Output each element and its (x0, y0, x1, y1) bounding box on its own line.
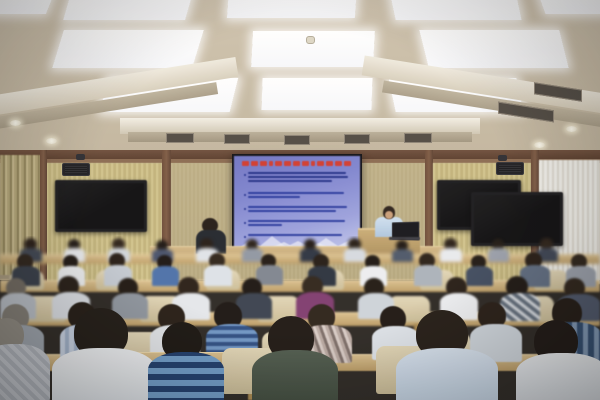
ceiling-light-panel (227, 0, 357, 18)
ceiling-light-panel (63, 0, 195, 20)
torso (252, 350, 338, 400)
torso (516, 353, 600, 400)
torso (440, 248, 462, 262)
torso (396, 348, 498, 400)
downlight (534, 142, 545, 148)
ceiling-light-panel (261, 78, 372, 110)
air-vent (344, 134, 370, 144)
slide-bullet: ——严格落实规定，明确职责，重点落实院党组织责任和监督责任。 (244, 192, 352, 198)
audience (0, 236, 600, 400)
bullet-dot (244, 174, 246, 176)
ceiling-light-panel (0, 0, 58, 14)
slide-bullet: 十九大以来，中央已出台系列新规定，各地相继下发了文件，县市层面落实细则必须严格执… (244, 172, 352, 182)
presenter-face (385, 211, 393, 219)
torso (466, 266, 493, 286)
torso (392, 249, 413, 262)
surveillance-camera-icon (498, 155, 507, 161)
torso (488, 248, 509, 262)
bullet-dot (244, 194, 246, 196)
wall-speaker (62, 163, 90, 176)
torso (204, 265, 232, 286)
torso (500, 293, 540, 321)
torso (0, 344, 50, 400)
ceiling (0, 0, 600, 152)
air-vent (404, 133, 432, 143)
slide-title: 工作纪律、廉洁自律规范、督查问责要求 (242, 160, 354, 166)
bullet-dot (244, 222, 246, 224)
torso (152, 266, 179, 286)
slide-bullet: ——强化监督检查，做好制度建设与执行的有机衔接，完善督查机制。 (244, 220, 352, 226)
ceiling-light-panel (419, 30, 568, 68)
ceiling-light-panel (388, 0, 521, 20)
ceiling-light-panel (52, 30, 204, 68)
air-vent (284, 135, 310, 145)
air-vent (224, 134, 250, 144)
wall-speaker (496, 162, 524, 175)
torso (344, 248, 366, 262)
conference-hall-photo: 工作纪律、廉洁自律规范、督查问责要求 十九大以来，中央已出台系列新规定，各地相继… (0, 0, 600, 400)
ceiling-light-panel (535, 0, 600, 14)
bullet-dot (244, 208, 246, 210)
surveillance-camera-icon (76, 154, 85, 160)
torso (52, 348, 156, 400)
torso (242, 248, 263, 262)
tv-left (55, 180, 147, 232)
slide-bullet: ——注重重点问题，对重点岗位、重点人、重点问题要抓紧，做出合理一揽子解决方案。 (244, 206, 352, 212)
air-vent (166, 133, 194, 143)
downlight (566, 126, 577, 132)
torso (414, 265, 442, 286)
smoke-detector-icon (306, 36, 315, 44)
downlight (10, 120, 21, 126)
downlight (46, 138, 57, 144)
torso (148, 352, 224, 400)
